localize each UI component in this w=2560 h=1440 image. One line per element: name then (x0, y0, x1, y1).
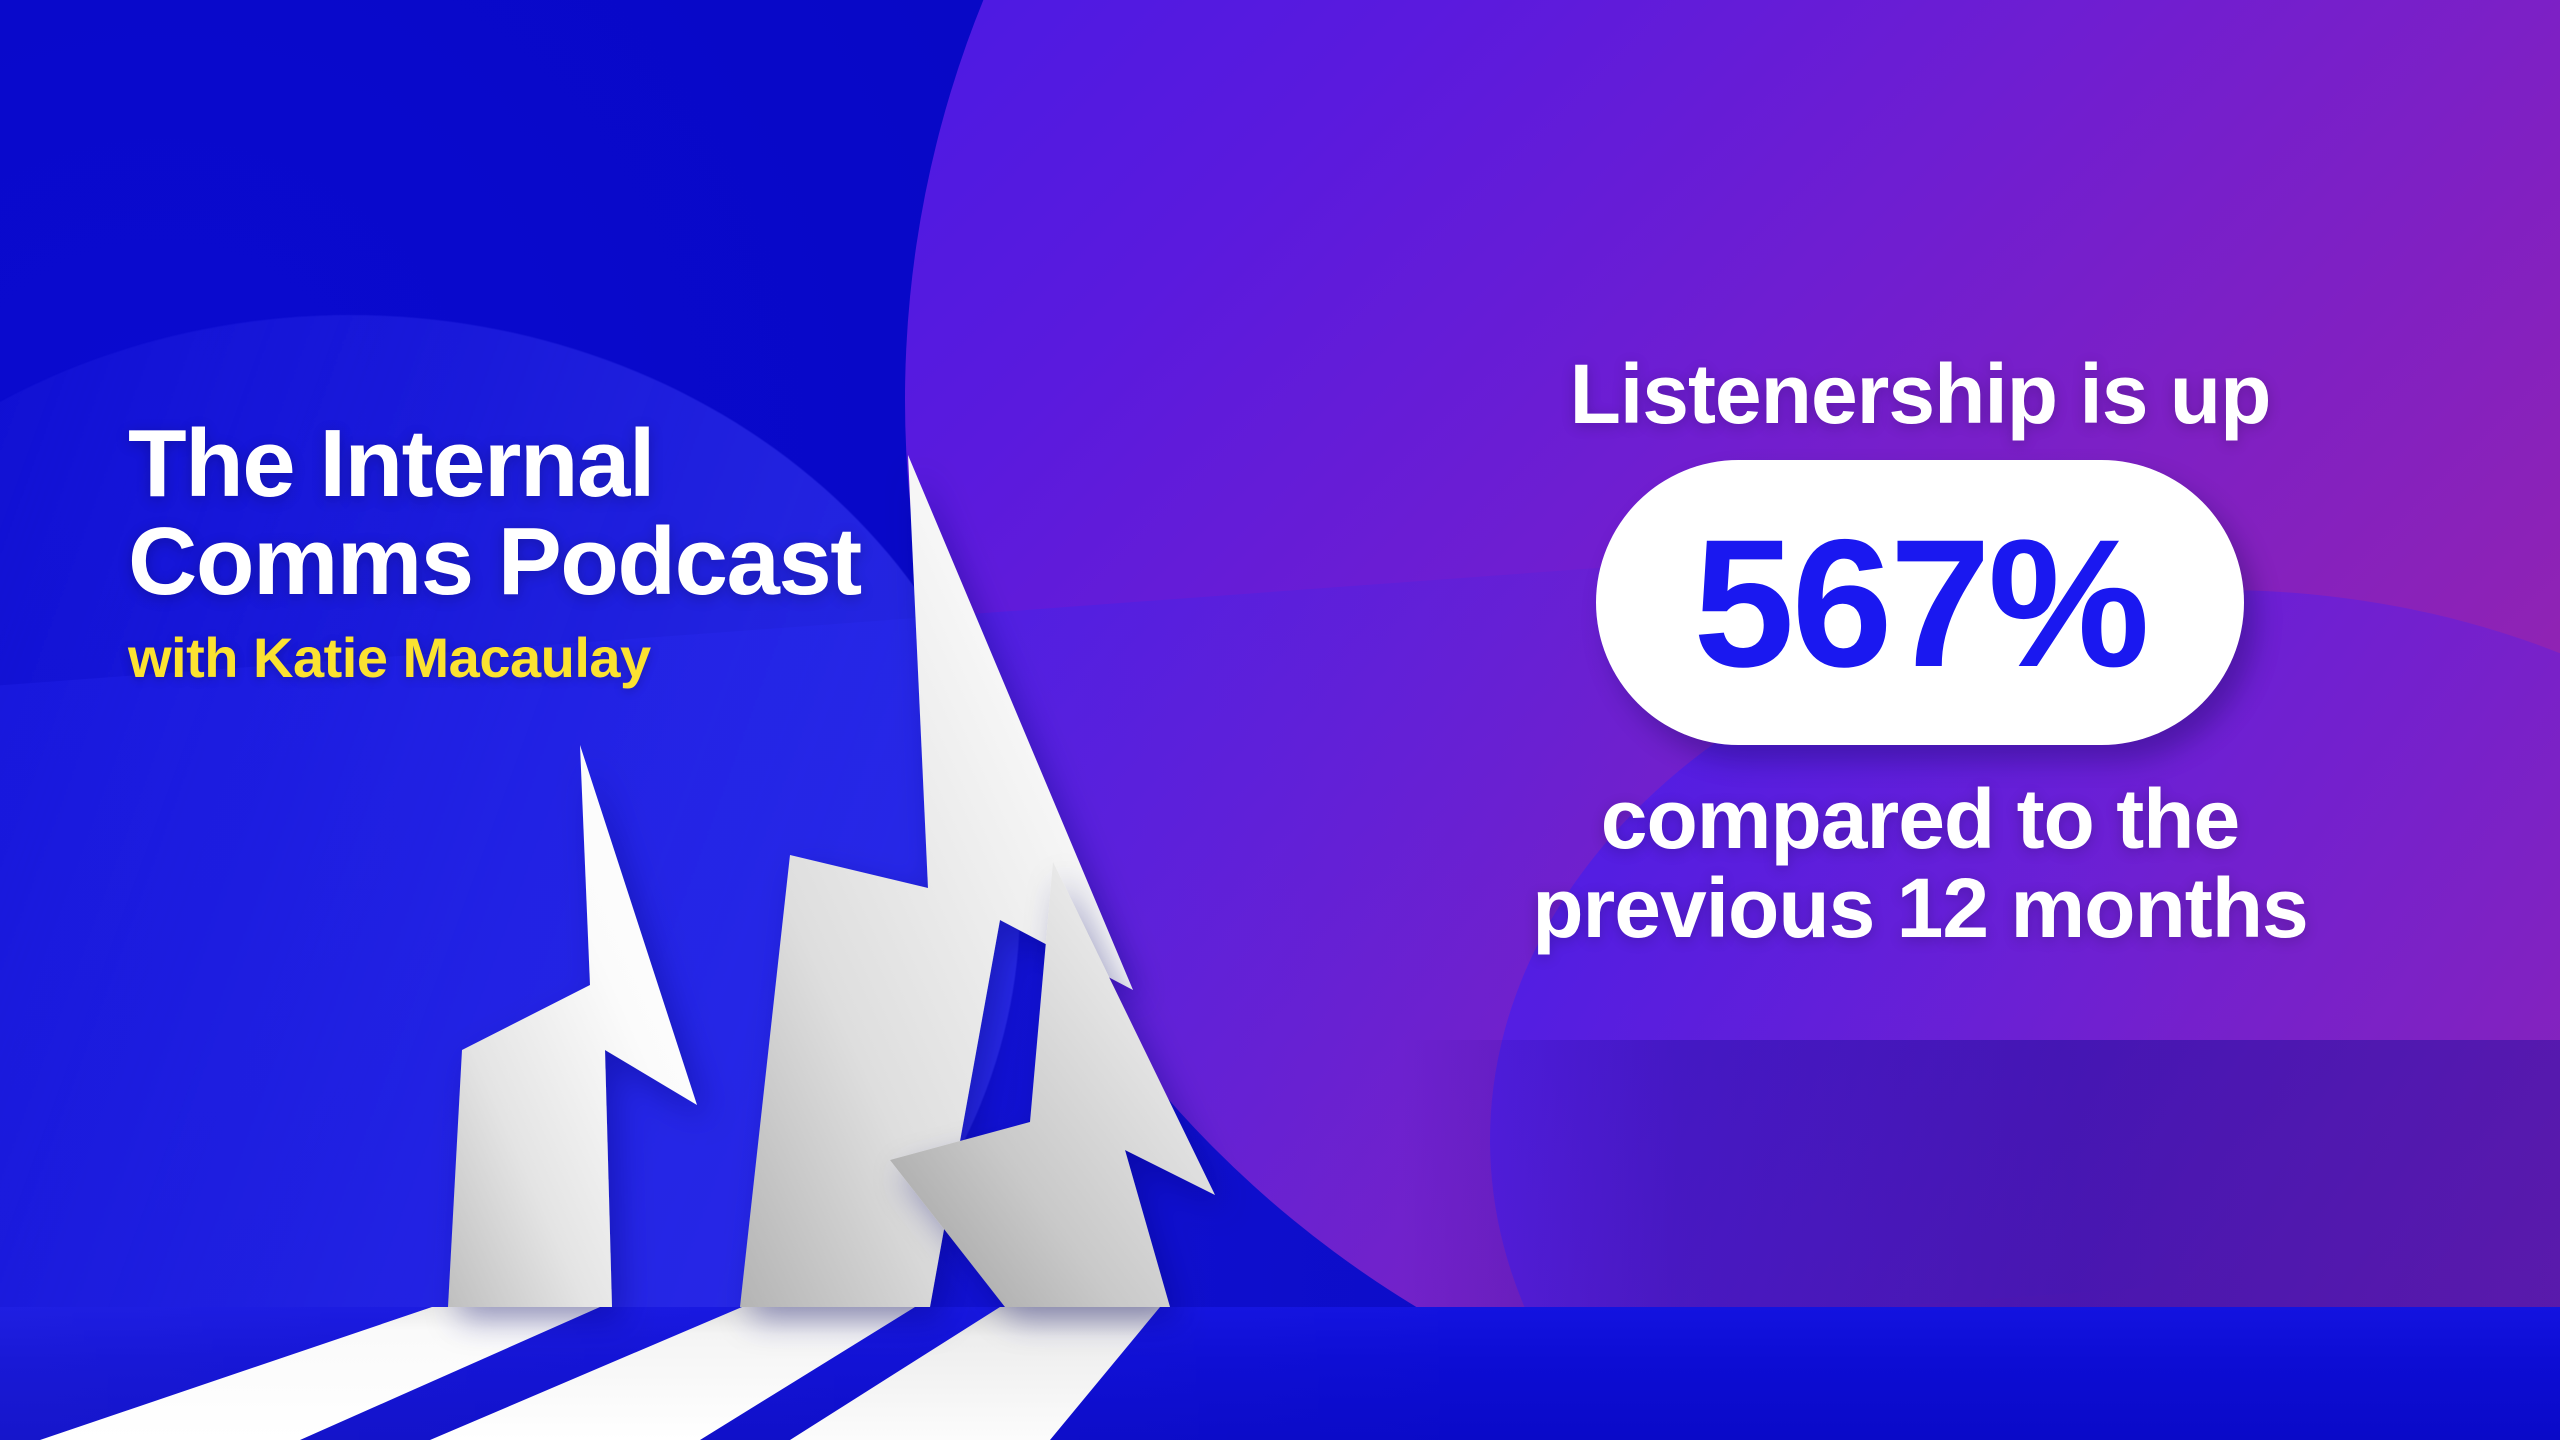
podcast-host-line: with Katie Macaulay (128, 629, 1178, 688)
podcast-title: The Internal Comms Podcast (128, 415, 1178, 611)
poster-canvas: The Internal Comms Podcast with Katie Ma… (0, 0, 2560, 1440)
podcast-branding: The Internal Comms Podcast with Katie Ma… (128, 415, 1178, 688)
stat-subline: compared to the previous 12 months (1360, 775, 2480, 953)
stat-value: 567% (1693, 512, 2147, 694)
stat-value-pill: 567% (1596, 460, 2244, 745)
ground-sheen (0, 1307, 1500, 1440)
background-dark-band (1400, 1040, 2560, 1310)
statistic-block: Listenership is up 567% compared to the … (1360, 350, 2480, 953)
stat-headline: Listenership is up (1360, 350, 2480, 438)
